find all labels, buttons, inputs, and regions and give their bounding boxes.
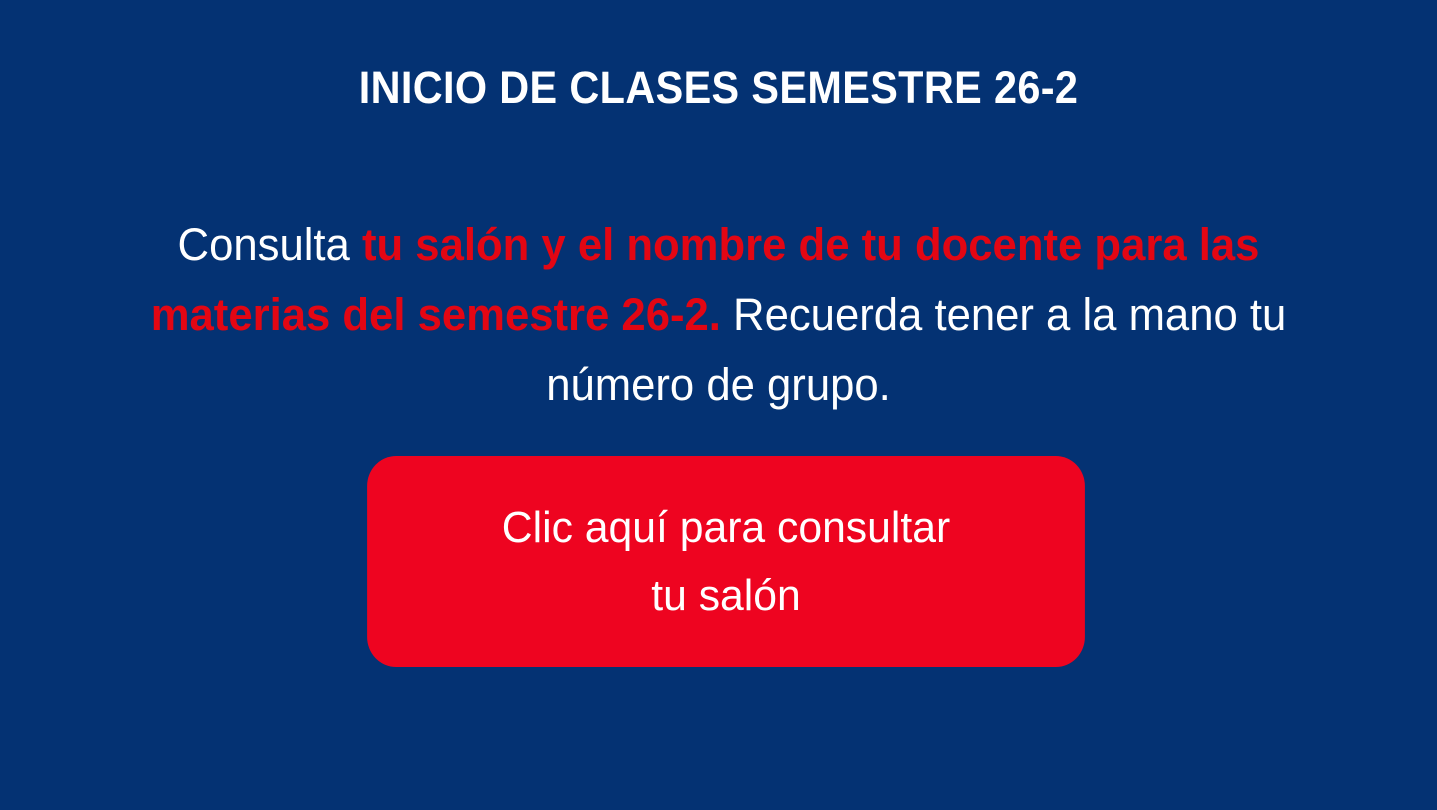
- body-paragraph: Consulta tu salón y el nombre de tu doce…: [136, 210, 1301, 420]
- body-segment-leading: Consulta: [178, 219, 362, 270]
- page-title: INICIO DE CLASES SEMESTRE 26-2: [57, 60, 1379, 116]
- cta-container: Clic aquí para consultar tu salón: [356, 456, 1096, 667]
- cta-label-line-2: tu salón: [651, 562, 800, 630]
- announcement-slide: INICIO DE CLASES SEMESTRE 26-2 Consulta …: [0, 0, 1437, 810]
- consultar-salon-button[interactable]: Clic aquí para consultar tu salón: [367, 456, 1085, 667]
- cta-label-line-1: Clic aquí para consultar: [502, 494, 950, 562]
